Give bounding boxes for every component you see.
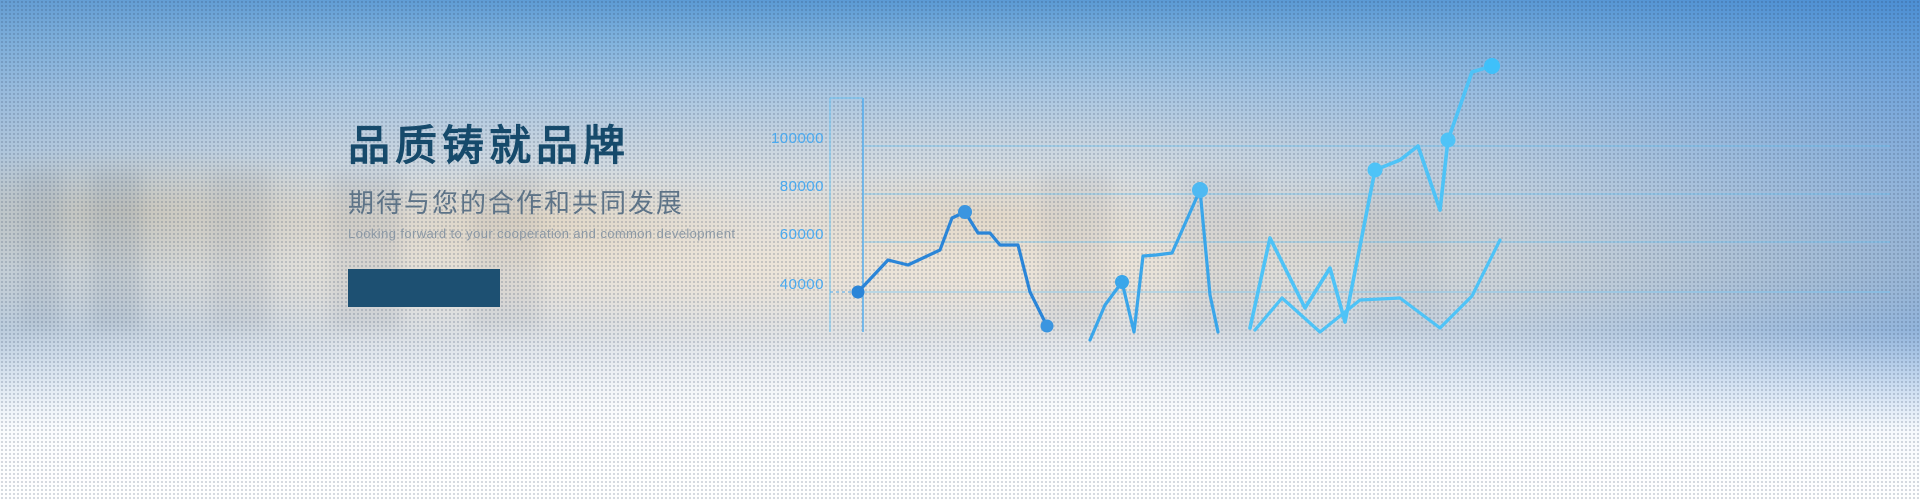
y-tick-label: 80000: [780, 178, 824, 195]
cta-button[interactable]: [348, 269, 500, 307]
data-point: [1041, 320, 1054, 333]
chart-series-2: [1090, 182, 1218, 340]
chart-gridlines: [830, 146, 1890, 292]
data-point: [1368, 163, 1383, 178]
y-tick-label: 100000: [771, 130, 824, 147]
y-tick-label: 40000: [780, 276, 824, 293]
line-chart: 100000 80000 60000 40000: [800, 60, 1900, 350]
data-point: [1441, 133, 1456, 148]
y-tick-label: 60000: [780, 226, 824, 243]
data-point: [1192, 182, 1208, 198]
hero-banner: 品质铸就品牌 期待与您的合作和共同发展 Looking forward to y…: [0, 0, 1920, 500]
data-point: [1115, 275, 1129, 289]
data-point: [852, 286, 865, 299]
chart-series-1: [852, 205, 1054, 333]
chart-series-3: [1250, 58, 1500, 328]
chart-series-4: [1255, 240, 1500, 332]
data-point: [958, 205, 972, 219]
data-point: [1484, 58, 1500, 74]
chart-svg: 100000 80000 60000 40000: [800, 60, 1900, 350]
